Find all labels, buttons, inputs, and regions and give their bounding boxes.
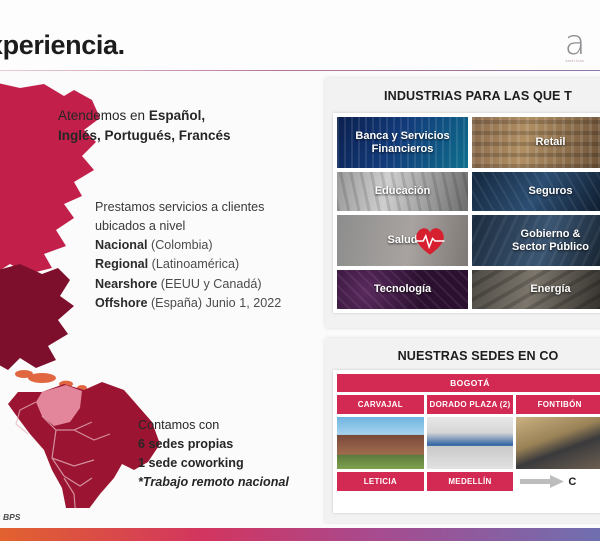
sites-note-line2: 1 sede coworking xyxy=(138,456,244,470)
services-text: Prestamos servicios a clientes ubicados … xyxy=(95,198,281,313)
logo-glyph: a xyxy=(558,28,592,58)
sites-city-band: BOGOTÁ xyxy=(337,374,600,392)
site-cell-dorado-plaza[interactable]: DORADO PLAZA (2) xyxy=(427,395,514,469)
industry-label-gobierno: Gobierno & Sector Público xyxy=(498,228,600,253)
industry-label-tecnologia: Tecnología xyxy=(370,283,435,296)
site-image-dorado-plaza xyxy=(427,417,514,469)
sites-card: BOGOTÁ CARVAJAL DORADO PLAZA (2) FONTIBÓ… xyxy=(333,370,600,513)
industry-label-banca: Banca y Servicios Financieros xyxy=(337,130,468,155)
heart-icon xyxy=(413,226,447,256)
industry-cell-seguros[interactable]: Seguros xyxy=(472,172,600,211)
site-cell-carvajal[interactable]: CARVAJAL xyxy=(337,395,424,469)
industry-cell-tecnologia[interactable]: Tecnología xyxy=(337,270,468,309)
arrow-right-icon xyxy=(520,475,564,488)
languages-line2: Inglés, Portugués, Francés xyxy=(58,128,231,143)
footnote: éricas BPS xyxy=(0,512,20,522)
industry-cell-salud[interactable]: Salud xyxy=(337,215,468,266)
site-image-carvajal xyxy=(337,417,424,469)
industry-cell-retail[interactable]: Retail xyxy=(472,117,600,168)
services-label-1: Regional xyxy=(95,257,148,271)
industry-label-retail: Retail xyxy=(532,136,570,149)
industry-label-educacion: Educación xyxy=(371,185,435,198)
languages-text: Atendemos en Español, Inglés, Portugués,… xyxy=(58,106,231,147)
sites-panel: NUESTRAS SEDES EN CO BOGOTÁ CARVAJAL DOR… xyxy=(325,338,600,523)
services-label-0: Nacional xyxy=(95,238,148,252)
industry-cell-banca[interactable]: Banca y Servicios Financieros xyxy=(337,117,468,168)
industry-cell-educacion[interactable]: Educación xyxy=(337,172,468,211)
services-label-2: Nearshore xyxy=(95,277,157,291)
industry-cell-gobierno[interactable]: Gobierno & Sector Público xyxy=(472,215,600,266)
services-lead-1: Prestamos servicios a clientes xyxy=(95,200,264,214)
site-name-dorado-plaza: DORADO PLAZA (2) xyxy=(427,395,514,414)
footer-gradient-bar xyxy=(0,528,600,541)
industries-grid: Banca y Servicios Financieros Retail Edu… xyxy=(337,117,600,309)
header-divider xyxy=(0,70,600,71)
languages-line1: Español, xyxy=(149,108,205,123)
industry-label-seguros: Seguros xyxy=(524,185,576,198)
services-detail-1: (Latinoamérica) xyxy=(148,257,239,271)
slide-canvas: xperiencia. a américas xyxy=(0,0,600,541)
industries-panel: INDUSTRIAS PARA LAS QUE T Banca y Servic… xyxy=(325,78,600,328)
map-region-usa xyxy=(0,254,74,374)
site-cell-medellin[interactable]: MEDELLÍN xyxy=(427,472,514,491)
sites-note-lead: Contamos con xyxy=(138,418,219,432)
site-name-fontibon: FONTIBÓN xyxy=(516,395,600,414)
sites-note-line3: *Trabajo remoto nacional xyxy=(138,475,289,489)
industries-title: INDUSTRIAS PARA LAS QUE T xyxy=(341,78,600,103)
site-name-leticia: LETICIA xyxy=(337,472,424,491)
industries-card: Banca y Servicios Financieros Retail Edu… xyxy=(333,113,600,313)
services-detail-0: (Colombia) xyxy=(148,238,213,252)
services-lead-2: ubicados a nivel xyxy=(95,219,185,233)
sites-note: Contamos con 6 sedes propias 1 sede cowo… xyxy=(138,416,289,492)
sites-row-2: LETICIA MEDELLÍN C xyxy=(337,472,600,491)
services-label-3: Offshore xyxy=(95,296,147,310)
site-name-carvajal: CARVAJAL xyxy=(337,395,424,414)
services-detail-3: (España) Junio 1, 2022 xyxy=(147,296,281,310)
site-cell-leticia[interactable]: LETICIA xyxy=(337,472,424,491)
logo-subtext: américas xyxy=(558,59,592,63)
sites-row-1: CARVAJAL DORADO PLAZA (2) FONTIBÓN xyxy=(337,395,600,469)
logo: a américas xyxy=(558,28,592,68)
services-detail-2: (EEUU y Canadá) xyxy=(157,277,261,291)
languages-lead: Atendemos en xyxy=(58,108,149,123)
sites-next-control[interactable]: C xyxy=(516,472,600,491)
sites-next-label: C xyxy=(568,476,576,488)
industry-cell-energia[interactable]: Energía xyxy=(472,270,600,309)
site-image-fontibon xyxy=(516,417,600,469)
industry-label-energia: Energía xyxy=(526,283,574,296)
sites-title: NUESTRAS SEDES EN CO xyxy=(341,338,600,363)
site-cell-fontibon[interactable]: FONTIBÓN xyxy=(516,395,600,469)
site-name-medellin: MEDELLÍN xyxy=(427,472,514,491)
page-title: xperiencia. xyxy=(0,30,125,61)
sites-note-line1: 6 sedes propias xyxy=(138,437,233,451)
